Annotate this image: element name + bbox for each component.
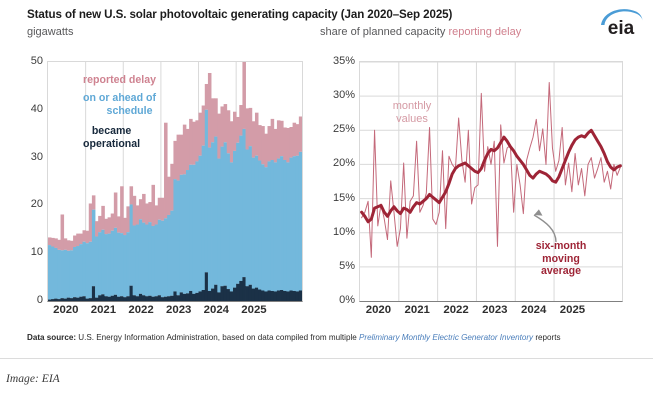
left-xtick-2024: 2024 [204,304,229,316]
legend-became-operational: becameoperational [83,125,140,150]
right-ytick-20: 20% [327,157,355,169]
left-ytick-20: 20 [22,198,43,210]
left-ytick-30: 30 [22,151,43,163]
label-moving-average: six-monthmovingaverage [519,240,603,278]
image-caption: Image: EIA [6,372,60,385]
data-source-footnote: Data source: U.S. Energy Information Adm… [27,333,637,344]
left-chart: 01020304050 202020212022202320242025 rep… [22,52,312,317]
right-ytick-5: 5% [327,260,355,272]
right-ytick-35: 35% [327,55,355,67]
label-monthly-values: monthlyvalues [381,100,443,126]
right-xtick-2024: 2024 [521,304,546,316]
left-ytick-0: 0 [22,294,43,306]
divider [0,358,653,359]
page-title: Status of new U.S. solar photovoltaic ge… [27,8,452,21]
footnote-label: Data source: [27,333,76,342]
left-ytick-40: 40 [22,103,43,115]
left-xtick-2020: 2020 [53,304,78,316]
left-ytick-50: 50 [22,55,43,67]
right-chart: 0%5%10%15%20%25%30%35% 20202021202220232… [327,52,637,317]
left-xtick-2022: 2022 [128,304,153,316]
legend-reported-delay: reported delay [83,74,156,87]
footnote-text-before: U.S. Energy Information Administration, … [78,333,356,342]
eia-logo: eia [597,6,645,40]
right-xtick-2025: 2025 [560,304,585,316]
footnote-italic-title: Preliminary Monthly Electric Generator I… [359,333,533,342]
right-xtick-2021: 2021 [405,304,430,316]
left-xtick-2025: 2025 [241,304,266,316]
right-xtick-2022: 2022 [443,304,468,316]
right-xtick-2023: 2023 [482,304,507,316]
right-subtitle-gray: share of planned capacity [320,26,445,38]
left-xtick-2023: 2023 [166,304,191,316]
right-chart-units-label: share of planned capacity reporting dela… [320,26,521,38]
legend-on-or-ahead: on or ahead of schedule [83,92,156,117]
left-chart-units-label: gigawatts [27,26,73,38]
right-ytick-30: 30% [327,89,355,101]
right-ytick-25: 25% [327,123,355,135]
svg-text:eia: eia [608,18,635,39]
footnote-text-after: reports [535,333,560,342]
figure-container: Status of new U.S. solar photovoltaic ge… [0,0,653,358]
right-xtick-2020: 2020 [366,304,391,316]
right-ytick-0: 0% [327,294,355,306]
left-ytick-10: 10 [22,246,43,258]
left-xtick-2021: 2021 [91,304,116,316]
right-ytick-10: 10% [327,226,355,238]
right-subtitle-accent: reporting delay [448,26,521,38]
right-ytick-15: 15% [327,192,355,204]
